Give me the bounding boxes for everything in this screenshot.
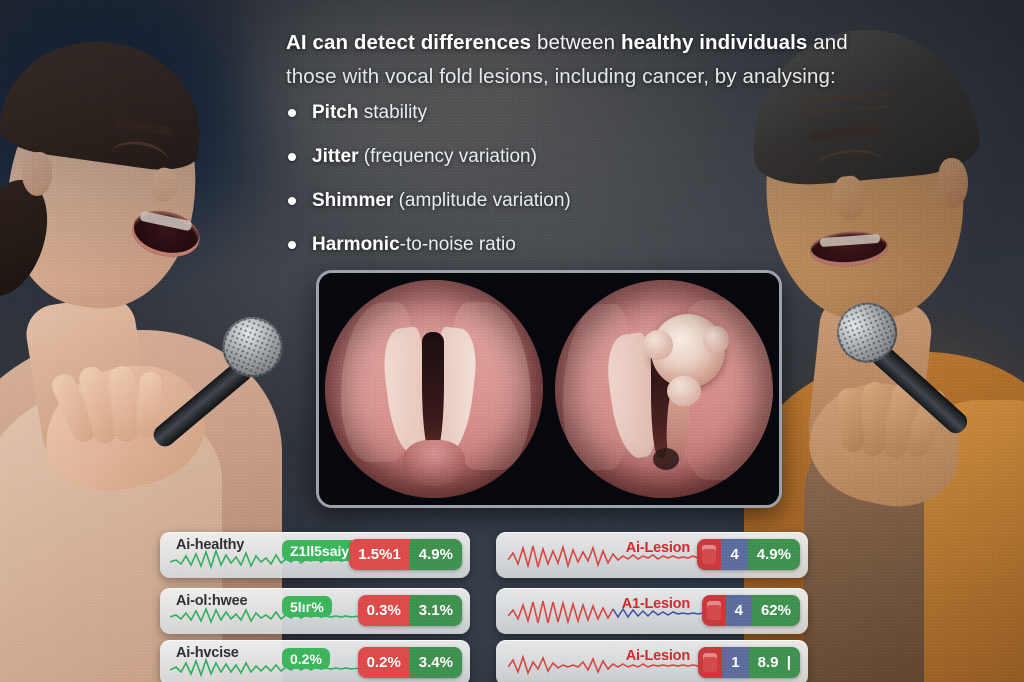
card-pill: 0.2% [282, 648, 330, 669]
status-badge: 1.5%1 4.9% [349, 539, 462, 570]
badge-red-value: 0.2% [358, 647, 410, 678]
card-pill: 5lıг% [282, 596, 332, 617]
waveform-lesion [508, 596, 723, 628]
badge-count: 4 [721, 539, 747, 570]
card-label: A1-Lesion [622, 596, 690, 612]
card-label: Ai-Lesion [626, 648, 690, 664]
card-pill: Z1ll5saiy [282, 540, 357, 561]
status-badge: 0.3% 3.1% [358, 595, 462, 626]
card-label: Ai-Lesion [626, 540, 690, 556]
waveform-lesion [508, 648, 723, 680]
status-badge: 4 62% [702, 595, 800, 626]
card-lesion-2[interactable]: A1-Lesion 4 62% [496, 588, 808, 634]
badge-count: 1 [722, 647, 748, 678]
badge-green-value: 8.9 | [749, 647, 800, 678]
card-label: Ai-ol:hwee [176, 593, 247, 609]
badge-count: 4 [726, 595, 752, 626]
infographic-root: AI can detect differences between health… [0, 0, 1024, 682]
badge-red-value: 1.5%1 [349, 539, 410, 570]
badge-suffix: | [787, 654, 791, 671]
card-lesion-1[interactable]: Ai-Lesion 4 4.9% [496, 532, 808, 578]
square-icon [702, 545, 716, 564]
square-icon [703, 653, 717, 672]
card-healthy-2[interactable]: Ai-ol:hwee 5lıг% 0.3% 3.1% [160, 588, 470, 634]
badge-red-block [697, 539, 721, 570]
waveform-lesion [508, 540, 723, 572]
badge-green-value: 3.4% [410, 647, 462, 678]
card-lesion-3[interactable]: Ai-Lesion 1 8.9 | [496, 640, 808, 682]
badge-red-value: 0.3% [358, 595, 410, 626]
status-badge: 0.2% 3.4% [358, 647, 462, 678]
badge-green-value: 62% [752, 595, 800, 626]
badge-green-value: 4.9% [410, 539, 462, 570]
badge-green-value: 3.1% [410, 595, 462, 626]
card-label: Ai-healthy [176, 537, 244, 553]
badge-green-value: 4.9% [748, 539, 800, 570]
card-label: Ai-hvcise [176, 645, 239, 661]
square-icon [707, 601, 721, 620]
card-healthy-1[interactable]: Ai-healthy Z1ll5saiy 1.5%1 4.9% [160, 532, 470, 578]
badge-red-block [702, 595, 726, 626]
metric-cards: Ai-healthy Z1ll5saiy 1.5%1 4.9% Ai-ol:hw… [0, 0, 1024, 682]
status-badge: 4 4.9% [697, 539, 800, 570]
badge-red-block [698, 647, 722, 678]
status-badge: 1 8.9 | [698, 647, 800, 678]
card-healthy-3[interactable]: Ai-hvcise 0.2% 0.2% 3.4% [160, 640, 470, 682]
